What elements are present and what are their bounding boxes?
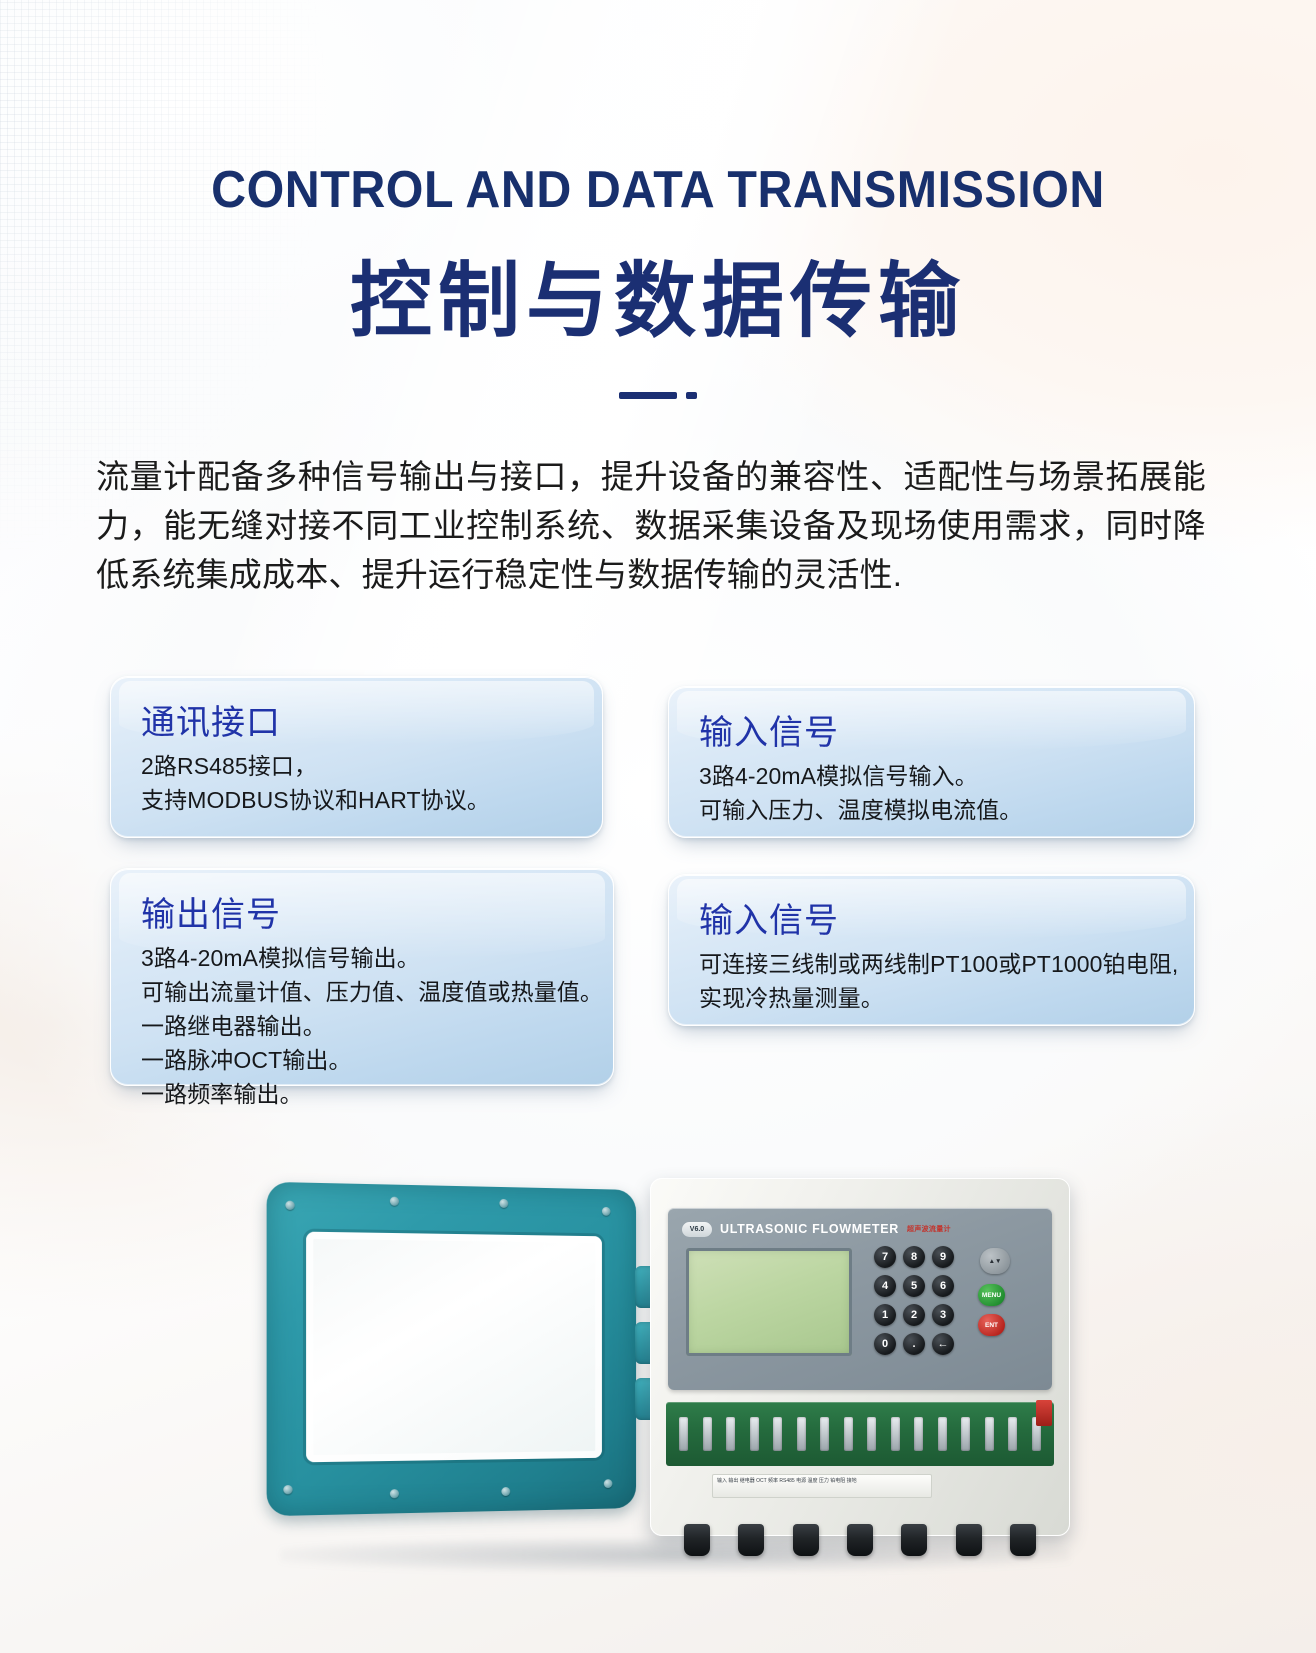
- key-backspace[interactable]: ←: [932, 1333, 954, 1355]
- terminal-screw-icon: [938, 1417, 947, 1451]
- key-2[interactable]: 2: [903, 1304, 925, 1326]
- terminal-screw-icon: [820, 1417, 829, 1451]
- key-dot[interactable]: .: [903, 1333, 925, 1355]
- terminal-screw-icon: [844, 1417, 853, 1451]
- key-enter[interactable]: ENT: [978, 1314, 1005, 1336]
- feature-card-communication: 通讯接口 2路RS485接口， 支持MODBUS协议和HART协议。: [110, 676, 603, 838]
- terminal-screw-icon: [1008, 1417, 1017, 1451]
- terminal-screw-icon: [773, 1417, 782, 1451]
- cable-gland-icon: [738, 1524, 764, 1556]
- terminal-screw-icon: [891, 1417, 900, 1451]
- key-5[interactable]: 5: [903, 1275, 925, 1297]
- feature-card-output: 输出信号 3路4-20mA模拟信号输出。 可输出流量计值、压力值、温度值或热量值…: [110, 868, 614, 1086]
- brand-row: V6.0 ULTRASONIC FLOWMETER 超声波流量计: [682, 1218, 1042, 1240]
- keypad: 7 8 9 4 5 6 1 2 3 0 . ←: [874, 1246, 970, 1358]
- screw-icon: [604, 1479, 613, 1488]
- terminal-screw-icon: [679, 1417, 688, 1451]
- brand-name: ULTRASONIC FLOWMETER: [720, 1222, 899, 1236]
- card-line: 2路RS485接口，: [141, 749, 572, 783]
- terminal-block: [666, 1402, 1054, 1466]
- terminal-screw-icon: [867, 1417, 876, 1451]
- card-title: 输入信号: [699, 899, 1164, 943]
- screw-icon: [283, 1485, 292, 1494]
- cable-gland-icon: [793, 1524, 819, 1556]
- card-title: 输入信号: [699, 711, 1164, 755]
- card-line: 3路4-20mA模拟信号输出。: [141, 941, 583, 975]
- key-3[interactable]: 3: [932, 1304, 954, 1326]
- product-photo: V6.0 ULTRASONIC FLOWMETER 超声波流量计 7 8 9 4…: [250, 1170, 1090, 1580]
- card-line: 一路频率输出。: [141, 1077, 583, 1111]
- screw-icon: [390, 1489, 399, 1498]
- key-1[interactable]: 1: [874, 1304, 896, 1326]
- page-title-chinese: 控制与数据传输: [0, 253, 1316, 351]
- key-7[interactable]: 7: [874, 1246, 896, 1268]
- card-line: 3路4-20mA模拟信号输入。: [699, 759, 1164, 793]
- instrument-bezel: V6.0 ULTRASONIC FLOWMETER 超声波流量计 7 8 9 4…: [668, 1208, 1052, 1390]
- power-terminal: [1036, 1400, 1052, 1426]
- card-line: 可连接三线制或两线制PT100或PT1000铂电阻,: [699, 947, 1164, 981]
- key-6[interactable]: 6: [932, 1275, 954, 1297]
- key-0[interactable]: 0: [874, 1333, 896, 1355]
- screw-icon: [602, 1207, 611, 1216]
- key-updown-arrow[interactable]: ▲▼: [980, 1248, 1010, 1274]
- cable-gland-icon: [1010, 1524, 1036, 1556]
- lid-window: [306, 1232, 602, 1463]
- wiring-label: 输入 输出 继电器 OCT 频率 RS485 电源 温度 压力 铂电阻 接地: [712, 1474, 932, 1498]
- cable-gland-icon: [901, 1524, 927, 1556]
- brand-subtitle: 超声波流量计: [907, 1224, 951, 1234]
- page-title-english: CONTROL AND DATA TRANSMISSION: [46, 160, 1270, 220]
- card-line: 一路继电器输出。: [141, 1009, 583, 1043]
- divider-bar-icon: [619, 392, 677, 399]
- feature-card-input-analog: 输入信号 3路4-20mA模拟信号输入。 可输入压力、温度模拟电流值。: [668, 686, 1195, 838]
- terminal-screw-icon: [961, 1417, 970, 1451]
- cable-gland-icon: [684, 1524, 710, 1556]
- cable-gland-icon: [847, 1524, 873, 1556]
- key-4[interactable]: 4: [874, 1275, 896, 1297]
- title-divider: [0, 392, 1316, 399]
- cable-gland-row: [674, 1524, 1046, 1558]
- card-line: 实现冷热量测量。: [699, 981, 1164, 1015]
- card-line: 可输出流量计值、压力值、温度值或热量值。: [141, 975, 583, 1009]
- terminal-screw-icon: [797, 1417, 806, 1451]
- card-title: 输出信号: [141, 893, 583, 937]
- screw-icon: [499, 1199, 508, 1208]
- screw-icon: [285, 1201, 294, 1210]
- divider-dot-icon: [686, 392, 697, 399]
- card-line: 一路脉冲OCT输出。: [141, 1043, 583, 1077]
- key-8[interactable]: 8: [903, 1246, 925, 1268]
- terminal-screw-icon: [985, 1417, 994, 1451]
- key-9[interactable]: 9: [932, 1246, 954, 1268]
- feature-card-input-rtd: 输入信号 可连接三线制或两线制PT100或PT1000铂电阻, 实现冷热量测量。: [668, 874, 1195, 1026]
- enclosure-body: V6.0 ULTRASONIC FLOWMETER 超声波流量计 7 8 9 4…: [650, 1178, 1070, 1536]
- terminal-screw-icon: [703, 1417, 712, 1451]
- key-menu[interactable]: MENU: [978, 1284, 1005, 1306]
- terminal-screw-icon: [750, 1417, 759, 1451]
- version-badge: V6.0: [682, 1222, 712, 1237]
- screw-icon: [390, 1197, 399, 1206]
- screw-icon: [501, 1487, 510, 1496]
- terminal-screw-icon: [726, 1417, 735, 1451]
- cable-gland-icon: [956, 1524, 982, 1556]
- intro-paragraph: 流量计配备多种信号输出与接口，提升设备的兼容性、适配性与场景拓展能力，能无缝对接…: [96, 452, 1206, 599]
- lcd-display: [686, 1248, 852, 1356]
- card-line: 可输入压力、温度模拟电流值。: [699, 793, 1164, 827]
- enclosure-lid: [267, 1182, 636, 1516]
- card-title: 通讯接口: [141, 701, 572, 745]
- card-line: 支持MODBUS协议和HART协议。: [141, 783, 572, 817]
- terminal-screw-icon: [914, 1417, 923, 1451]
